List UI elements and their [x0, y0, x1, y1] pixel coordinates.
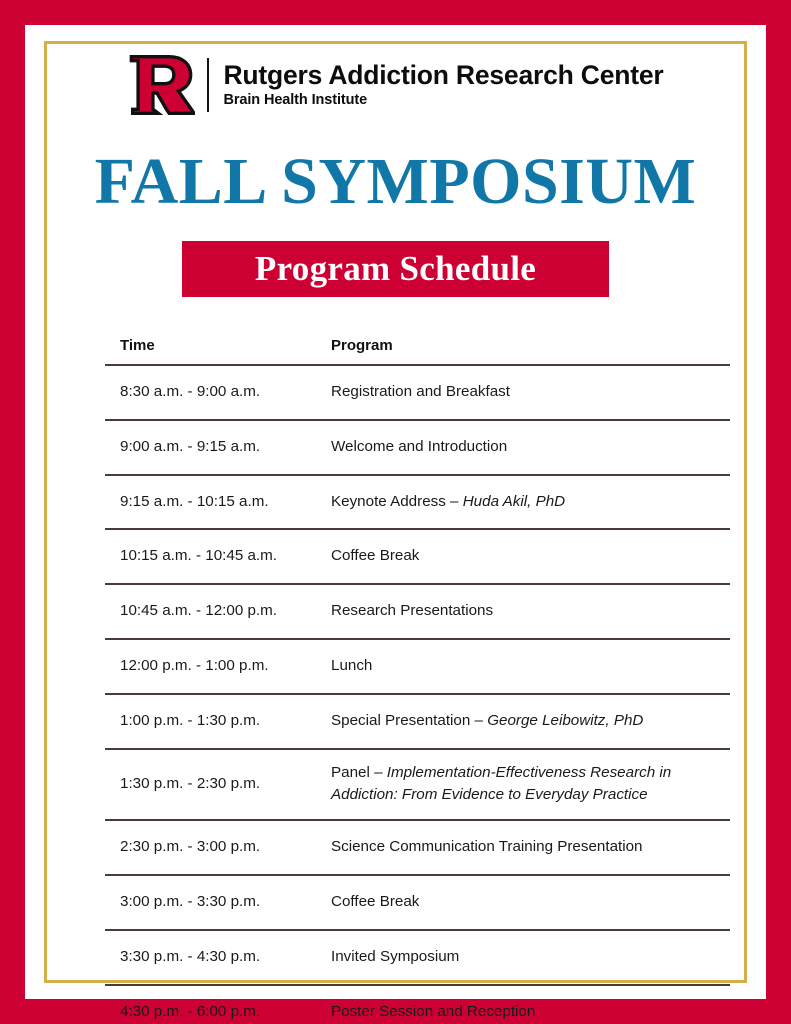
schedule-table: Time Program 8:30 a.m. - 9:00 a.m.Regist… — [105, 337, 730, 1024]
rutgers-logo-lockup: Rutgers Addiction Research Center Brain … — [44, 54, 747, 116]
program-text: Keynote Address – — [331, 493, 463, 510]
program-text: Panel – — [331, 764, 387, 781]
table-row: 10:45 a.m. - 12:00 p.m.Research Presenta… — [105, 584, 730, 639]
logo-divider — [207, 58, 209, 112]
cell-time: 1:30 p.m. - 2:30 p.m. — [105, 749, 316, 821]
banner-wrap: Program Schedule — [44, 241, 747, 297]
table-row: 1:30 p.m. - 2:30 p.m.Panel – Implementat… — [105, 749, 730, 821]
schedule-table-body: 8:30 a.m. - 9:00 a.m.Registration and Br… — [105, 365, 730, 1024]
cell-time: 1:00 p.m. - 1:30 p.m. — [105, 694, 316, 749]
schedule-table-wrap: Time Program 8:30 a.m. - 9:00 a.m.Regist… — [105, 337, 730, 1024]
cell-time: 2:30 p.m. - 3:00 p.m. — [105, 820, 316, 875]
program-text: Welcome and Introduction — [331, 438, 507, 455]
cell-time: 9:00 a.m. - 9:15 a.m. — [105, 420, 316, 475]
program-text: Invited Symposium — [331, 948, 459, 965]
page-title: FALL SYMPOSIUM — [44, 149, 747, 215]
table-row: 10:15 a.m. - 10:45 a.m.Coffee Break — [105, 529, 730, 584]
cell-program: Welcome and Introduction — [316, 420, 730, 475]
poster-content: Rutgers Addiction Research Center Brain … — [44, 41, 747, 983]
program-text: Coffee Break — [331, 893, 419, 910]
cell-program: Poster Session and Reception — [316, 985, 730, 1024]
rutgers-block-r-icon — [127, 54, 195, 116]
symposium-poster: Rutgers Addiction Research Center Brain … — [0, 0, 791, 1024]
banner-label: Program Schedule — [255, 249, 536, 289]
column-header-time: Time — [105, 337, 316, 365]
logo-subtitle: Brain Health Institute — [223, 93, 663, 109]
logo-title: Rutgers Addiction Research Center — [223, 61, 663, 89]
cell-time: 12:00 p.m. - 1:00 p.m. — [105, 639, 316, 694]
table-row: 12:00 p.m. - 1:00 p.m.Lunch — [105, 639, 730, 694]
program-emphasis: George Leibowitz, PhD — [487, 712, 643, 729]
program-text: Science Communication Training Presentat… — [331, 838, 643, 855]
table-row: 2:30 p.m. - 3:00 p.m.Science Communicati… — [105, 820, 730, 875]
cell-program: Lunch — [316, 639, 730, 694]
program-text: Special Presentation – — [331, 712, 487, 729]
program-emphasis: Huda Akil, PhD — [463, 493, 565, 510]
table-row: 3:00 p.m. - 3:30 p.m.Coffee Break — [105, 875, 730, 930]
cell-time: 10:15 a.m. - 10:45 a.m. — [105, 529, 316, 584]
cell-program: Research Presentations — [316, 584, 730, 639]
logo-wordmark: Rutgers Addiction Research Center Brain … — [223, 61, 663, 108]
cell-time: 4:30 p.m. - 6:00 p.m. — [105, 985, 316, 1024]
cell-time: 9:15 a.m. - 10:15 a.m. — [105, 475, 316, 530]
table-row: 4:30 p.m. - 6:00 p.m.Poster Session and … — [105, 985, 730, 1024]
cell-program: Science Communication Training Presentat… — [316, 820, 730, 875]
table-row: 9:00 a.m. - 9:15 a.m.Welcome and Introdu… — [105, 420, 730, 475]
cell-program: Special Presentation – George Leibowitz,… — [316, 694, 730, 749]
table-row: 3:30 p.m. - 4:30 p.m.Invited Symposium — [105, 930, 730, 985]
cell-time: 3:00 p.m. - 3:30 p.m. — [105, 875, 316, 930]
cell-program: Panel – Implementation-Effectiveness Res… — [316, 749, 730, 821]
cell-program: Keynote Address – Huda Akil, PhD — [316, 475, 730, 530]
cell-time: 8:30 a.m. - 9:00 a.m. — [105, 365, 316, 420]
program-text: Registration and Breakfast — [331, 383, 510, 400]
cell-program: Coffee Break — [316, 875, 730, 930]
table-row: 9:15 a.m. - 10:15 a.m.Keynote Address – … — [105, 475, 730, 530]
table-header-row: Time Program — [105, 337, 730, 365]
cell-program: Coffee Break — [316, 529, 730, 584]
program-text: Poster Session and Reception — [331, 1003, 535, 1020]
column-header-program: Program — [316, 337, 730, 365]
cell-time: 3:30 p.m. - 4:30 p.m. — [105, 930, 316, 985]
table-row: 1:00 p.m. - 1:30 p.m.Special Presentatio… — [105, 694, 730, 749]
program-text: Research Presentations — [331, 602, 493, 619]
cell-program: Invited Symposium — [316, 930, 730, 985]
cell-program: Registration and Breakfast — [316, 365, 730, 420]
cell-time: 10:45 a.m. - 12:00 p.m. — [105, 584, 316, 639]
table-row: 8:30 a.m. - 9:00 a.m.Registration and Br… — [105, 365, 730, 420]
program-text: Coffee Break — [331, 547, 419, 564]
program-text: Lunch — [331, 657, 372, 674]
program-schedule-banner: Program Schedule — [182, 241, 609, 297]
